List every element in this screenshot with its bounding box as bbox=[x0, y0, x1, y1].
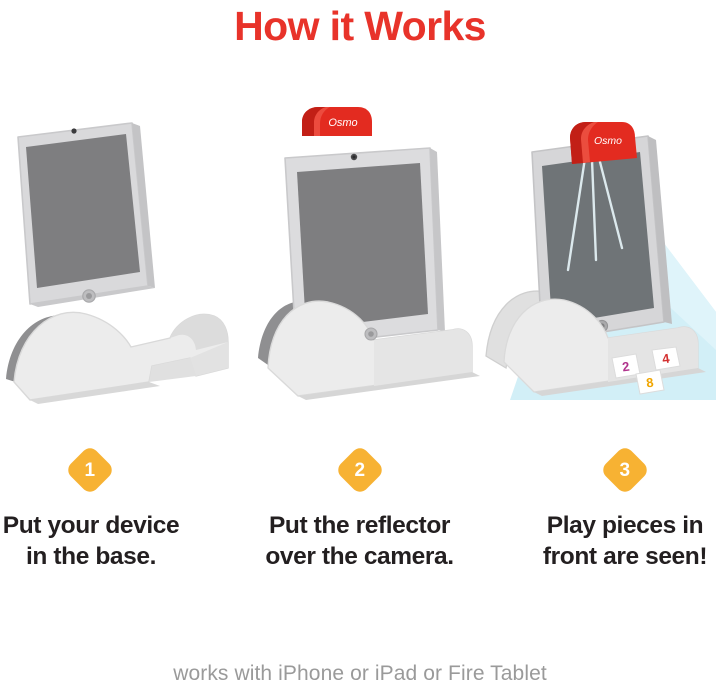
step-1: 1 Put your device in the base. bbox=[0, 452, 240, 572]
illustration-panel-3: Osmo 2 4 bbox=[480, 100, 720, 420]
how-it-works-infographic: How it Works bbox=[0, 0, 720, 692]
page-title: How it Works bbox=[0, 2, 720, 50]
play-piece-8: 8 bbox=[636, 370, 664, 394]
tablet-above-base-illustration bbox=[0, 100, 240, 420]
step-number-badge-3: 3 bbox=[600, 445, 651, 496]
osmo-wordmark: Osmo bbox=[328, 117, 357, 129]
step-3: 3 Play pieces in front are seen! bbox=[480, 452, 720, 572]
tablet-base-icon bbox=[6, 312, 228, 404]
step-number-badge-1: 1 bbox=[65, 445, 116, 496]
illustration-row: Osmo bbox=[0, 100, 720, 420]
step-number-1: 1 bbox=[85, 460, 96, 479]
step-number-2: 2 bbox=[354, 460, 365, 479]
step-number-badge-2: 2 bbox=[334, 445, 385, 496]
steps-row: 1 Put your device in the base. 2 Put the… bbox=[0, 452, 720, 572]
illustration-panel-1 bbox=[0, 100, 240, 420]
step-2: 2 Put the reflector over the camera. bbox=[240, 452, 480, 572]
osmo-wordmark: Osmo bbox=[594, 135, 622, 147]
compatibility-note: works with iPhone or iPad or Fire Tablet bbox=[0, 662, 720, 686]
illustration-panel-2: Osmo bbox=[240, 100, 480, 420]
osmo-reflector-icon: Osmo bbox=[302, 107, 372, 136]
step-number-3: 3 bbox=[620, 460, 631, 479]
play-piece-4: 4 bbox=[652, 347, 680, 370]
tablet-in-base-with-reflector-illustration: Osmo bbox=[240, 100, 480, 420]
tablet-icon bbox=[18, 123, 155, 307]
step-caption-3: Play pieces in front are seen! bbox=[543, 510, 707, 572]
step-caption-2: Put the reflector over the camera. bbox=[265, 510, 453, 572]
tablet-scanning-pieces-illustration: Osmo 2 4 bbox=[480, 100, 720, 420]
osmo-reflector-icon: Osmo bbox=[570, 122, 637, 164]
step-caption-1: Put your device in the base. bbox=[3, 510, 179, 572]
